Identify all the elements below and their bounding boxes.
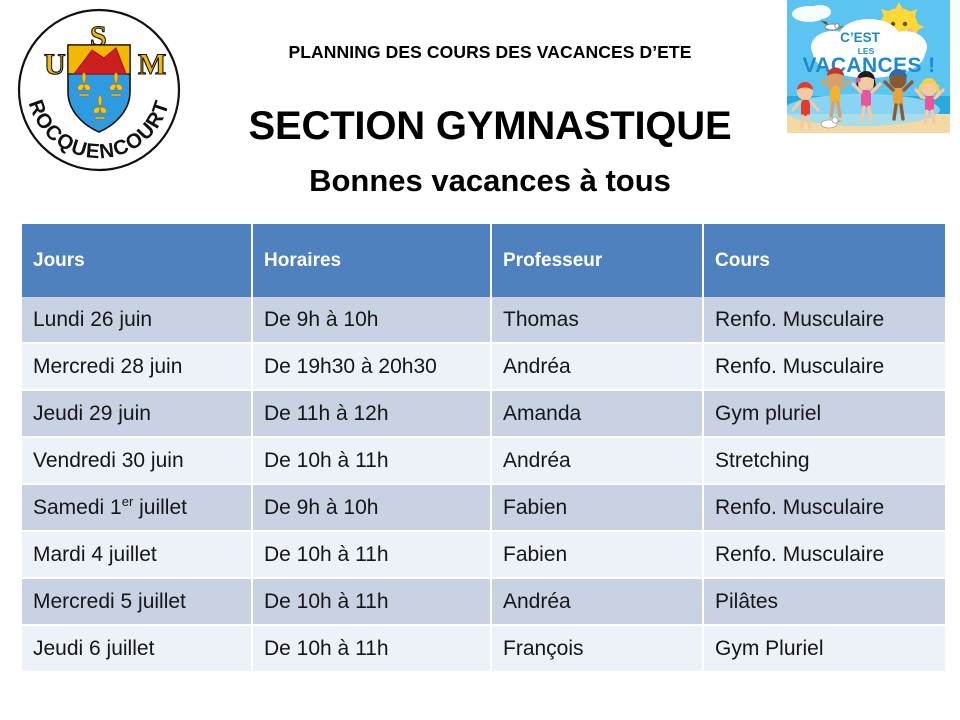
logo-letter-u: U [44,48,66,81]
column-header-cours[interactable]: Cours [703,224,945,297]
table-row: Vendredi 30 juinDe 10h à 11hAndréaStretc… [22,437,945,484]
cell-cours: Gym Pluriel [703,625,945,671]
cell-horaire: De 19h30 à 20h30 [252,343,491,390]
cell-professeur: Andréa [491,437,703,484]
table-row: Jeudi 6 juilletDe 10h à 11hFrançoisGym P… [22,625,945,671]
cell-jour: Mardi 4 juillet [22,531,252,578]
table-header-row: Jours Horaires Professeur Cours [22,224,945,297]
course-schedule-table: Jours Horaires Professeur Cours Lundi 26… [22,224,945,671]
cell-professeur: Fabien [491,531,703,578]
cell-jour: Jeudi 29 juin [22,390,252,437]
cell-horaire: De 9h à 10h [252,297,491,343]
cell-horaire: De 10h à 11h [252,437,491,484]
cell-jour: Lundi 26 juin [22,297,252,343]
page-subtitle: Bonnes vacances à tous [150,163,830,199]
cell-cours: Renfo. Musculaire [703,531,945,578]
cell-professeur: Fabien [491,484,703,531]
table-row: Mercredi 5 juilletDe 10h à 11hAndréaPilâ… [22,578,945,625]
cell-cours: Renfo. Musculaire [703,484,945,531]
page-title: SECTION GYMNASTIQUE [150,104,830,149]
cell-professeur: Andréa [491,578,703,625]
page-eyebrow-title: PLANNING DES COURS DES VACANCES D’ETE [190,42,790,63]
column-header-horaires[interactable]: Horaires [252,224,491,297]
cell-professeur: Thomas [491,297,703,343]
cell-cours: Renfo. Musculaire [703,297,945,343]
column-header-professeur[interactable]: Professeur [491,224,703,297]
table-row: Lundi 26 juinDe 9h à 10hThomasRenfo. Mus… [22,297,945,343]
cell-jour: Mercredi 28 juin [22,343,252,390]
table-row: Jeudi 29 juinDe 11h à 12hAmandaGym pluri… [22,390,945,437]
cell-horaire: De 9h à 10h [252,484,491,531]
cell-professeur: Andréa [491,343,703,390]
logo-letter-m: M [138,48,166,81]
cell-jour: Mercredi 5 juillet [22,578,252,625]
cell-cours: Gym pluriel [703,390,945,437]
cell-jour: Samedi 1er juillet [22,484,252,531]
table-row: Mercredi 28 juinDe 19h30 à 20h30AndréaRe… [22,343,945,390]
cell-horaire: De 10h à 11h [252,531,491,578]
cell-professeur: François [491,625,703,671]
vacation-banner-image: C’EST LES VACANCES ! [787,0,950,133]
table-row: Mardi 4 juilletDe 10h à 11hFabienRenfo. … [22,531,945,578]
cell-horaire: De 10h à 11h [252,578,491,625]
cell-cours: Stretching [703,437,945,484]
cell-horaire: De 11h à 12h [252,390,491,437]
table-body: Lundi 26 juinDe 9h à 10hThomasRenfo. Mus… [22,297,945,671]
cell-professeur: Amanda [491,390,703,437]
banner-text-line1: C’EST [840,30,881,45]
ordinal-suffix: er [122,494,134,509]
cell-horaire: De 10h à 11h [252,625,491,671]
club-logo: U S M ROCQUENCOURT [12,6,186,180]
cell-cours: Pilâtes [703,578,945,625]
table-row: Samedi 1er juilletDe 9h à 10hFabienRenfo… [22,484,945,531]
cell-jour: Jeudi 6 juillet [22,625,252,671]
cell-jour: Vendredi 30 juin [22,437,252,484]
column-header-jours[interactable]: Jours [22,224,252,297]
cell-cours: Renfo. Musculaire [703,343,945,390]
